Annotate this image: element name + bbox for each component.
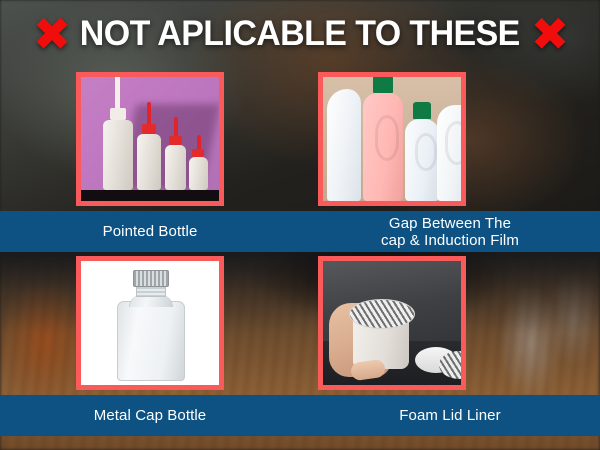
photo-foam-lid-liner: [323, 261, 461, 385]
photo-frame-gap-cap-induction-film: [318, 72, 466, 206]
photo-frame-pointed-bottle: [76, 72, 224, 206]
red-x-mark-icon-left: ✖: [33, 11, 70, 57]
photo-detergent-bottles: [323, 77, 461, 201]
poster-header: ✖ NOT APLICABLE TO THESE ✖: [0, 0, 600, 68]
caption-foam-lid-liner: Foam Lid Liner: [300, 395, 600, 436]
item-grid: Pointed Bottle: [0, 68, 600, 450]
caption-pointed-bottle: Pointed Bottle: [0, 211, 300, 252]
caption-gap-cap-induction-film: Gap Between The cap & Induction Film: [300, 211, 600, 252]
red-x-mark-icon-right: ✖: [531, 11, 568, 57]
photo-frame-metal-cap-bottle: [76, 256, 224, 390]
photo-pointed-bottle: [81, 77, 219, 201]
poster-title: NOT APLICABLE TO THESE: [80, 14, 520, 54]
caption-metal-cap-bottle: Metal Cap Bottle: [0, 395, 300, 436]
photo-frame-foam-lid-liner: [318, 256, 466, 390]
photo-metal-cap-bottle: [81, 261, 219, 385]
poster-root: ✖ NOT APLICABLE TO THESE ✖: [0, 0, 600, 450]
